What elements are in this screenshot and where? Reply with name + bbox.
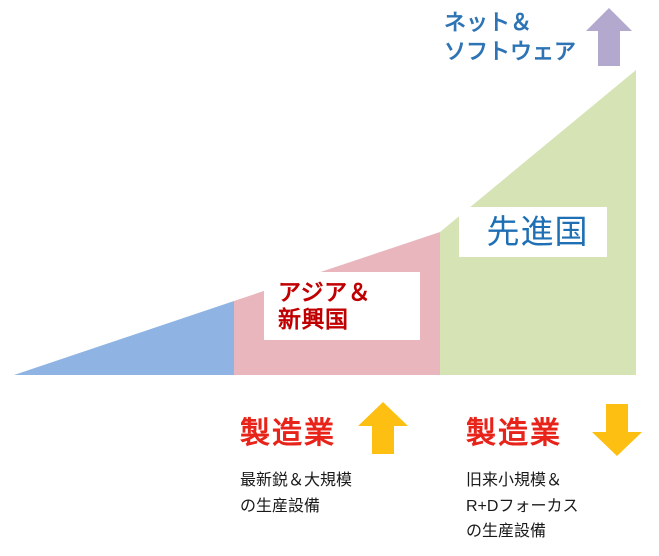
callout-advanced-countries: 先進国 — [459, 207, 607, 257]
column-manufacturing-down-desc-line-2: R+Dフォーカス — [466, 494, 659, 520]
column-manufacturing-down-desc-line-1: 旧来小規模＆ — [466, 468, 659, 494]
purple-up-arrow-icon — [586, 8, 632, 66]
callout-advanced-countries-label: 先進国 — [487, 213, 589, 252]
column-manufacturing-up-desc-line-2: の生産設備 — [240, 494, 440, 520]
column-manufacturing-down-desc-line-3: の生産設備 — [466, 519, 659, 545]
diagram-canvas: ネット＆ ソフトウェア 先進国 アジア＆ 新興国 製造業 最新鋭＆大規模 の生産… — [0, 0, 659, 556]
column-manufacturing-up: 製造業 最新鋭＆大規模 の生産設備 — [240, 408, 440, 519]
column-manufacturing-up-heading: 製造業 — [240, 408, 440, 452]
callout-asia-emerging: アジア＆ 新興国 — [264, 272, 420, 340]
column-manufacturing-down-description: 旧来小規模＆ R+Dフォーカス の生産設備 — [466, 468, 659, 545]
wedge-blue — [14, 301, 234, 375]
orange-up-arrow-icon — [358, 402, 408, 454]
net-software-line-1: ネット＆ — [444, 8, 594, 37]
orange-down-arrow-icon — [592, 404, 642, 456]
column-manufacturing-up-description: 最新鋭＆大規模 の生産設備 — [240, 468, 440, 519]
column-manufacturing-up-desc-line-1: 最新鋭＆大規模 — [240, 468, 440, 494]
callout-asia-emerging-line-2: 新興国 — [278, 306, 349, 333]
net-software-line-2: ソフトウェア — [444, 37, 594, 66]
net-and-software-heading: ネット＆ ソフトウェア — [444, 8, 594, 66]
callout-asia-emerging-line-1: アジア＆ — [278, 279, 371, 306]
